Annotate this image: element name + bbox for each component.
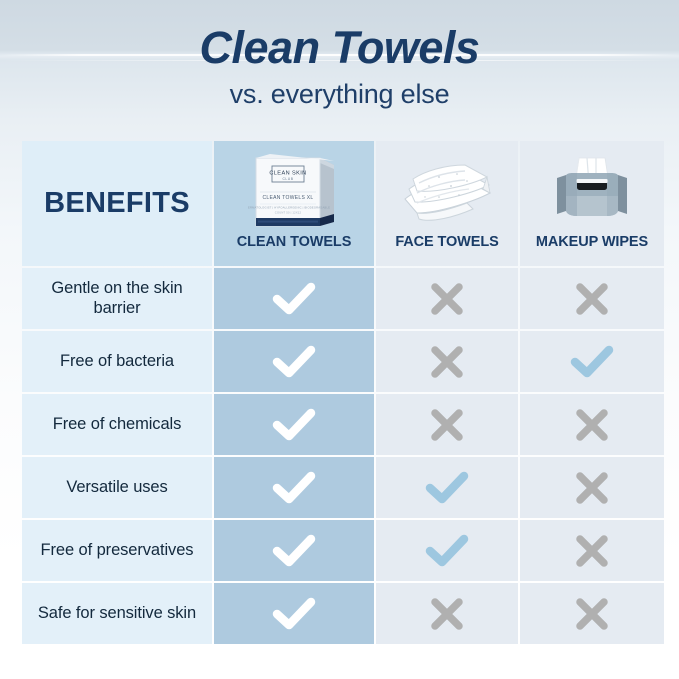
check-white-icon: [271, 405, 317, 445]
mark-cell-face-towels: [376, 457, 518, 518]
cross-gray-icon: [572, 531, 612, 571]
mark-cell-clean-towels: [214, 583, 374, 644]
column-header-label-makeup-wipes: MAKEUP WIPES: [536, 235, 648, 252]
mark-cell-makeup-wipes: [520, 583, 664, 644]
mark-cell-face-towels: [376, 394, 518, 455]
column-header-face-towels: FACE TOWELS: [376, 141, 518, 266]
cross-gray-icon: [427, 279, 467, 319]
benefit-label-cell: Gentle on the skin barrier: [22, 268, 212, 329]
mark-cell-clean-towels: [214, 268, 374, 329]
mark-cell-face-towels: [376, 331, 518, 392]
comparison-table: BENEFITS: [22, 141, 658, 644]
cross-gray-icon: [572, 594, 612, 634]
mark-cell-clean-towels: [214, 331, 374, 392]
mark-cell-face-towels: [376, 520, 518, 581]
mark-cell-face-towels: [376, 583, 518, 644]
page-subtitle: vs. everything else: [0, 80, 679, 110]
benefit-label-text: Free of chemicals: [53, 415, 182, 434]
benefit-label-text: Free of preservatives: [41, 541, 194, 560]
check-white-icon: [271, 279, 317, 319]
svg-text:CLEAN TOWELS XL: CLEAN TOWELS XL: [263, 195, 314, 201]
benefit-label-cell: Safe for sensitive skin: [22, 583, 212, 644]
cross-gray-icon: [427, 594, 467, 634]
mark-cell-makeup-wipes: [520, 331, 664, 392]
mark-cell-face-towels: [376, 268, 518, 329]
cross-gray-icon: [427, 342, 467, 382]
benefit-label-text: Versatile uses: [66, 478, 167, 497]
svg-text:DERMATOLOGIST | HYPOALLERGENIC: DERMATOLOGIST | HYPOALLERGENIC | BIODEGR…: [248, 206, 330, 210]
cross-gray-icon: [572, 405, 612, 445]
mark-cell-makeup-wipes: [520, 457, 664, 518]
column-header-label-clean-towels: CLEAN TOWELS: [237, 235, 352, 252]
benefit-label-cell: Free of chemicals: [22, 394, 212, 455]
mark-cell-makeup-wipes: [520, 520, 664, 581]
mark-cell-makeup-wipes: [520, 394, 664, 455]
mark-cell-makeup-wipes: [520, 268, 664, 329]
benefit-label-text: Gentle on the skin barrier: [30, 279, 204, 318]
mark-cell-clean-towels: [214, 520, 374, 581]
benefits-header-cell: BENEFITS: [22, 141, 212, 266]
column-header-makeup-wipes: MAKEUP WIPES: [520, 141, 664, 266]
clean-towels-box-icon: CLEAN SKIN CLUB CLEAN TOWELS XL DERMATOL…: [214, 149, 374, 235]
mark-cell-clean-towels: [214, 457, 374, 518]
column-header-clean-towels: CLEAN SKIN CLUB CLEAN TOWELS XL DERMATOL…: [214, 141, 374, 266]
cross-gray-icon: [572, 279, 612, 319]
mark-cell-clean-towels: [214, 394, 374, 455]
column-header-label-face-towels: FACE TOWELS: [395, 235, 498, 252]
benefit-label-cell: Free of preservatives: [22, 520, 212, 581]
svg-text:CLEAN SKIN: CLEAN SKIN: [269, 171, 306, 177]
cross-gray-icon: [572, 468, 612, 508]
benefits-header-label: BENEFITS: [44, 187, 190, 220]
check-blue-icon: [569, 342, 615, 382]
check-white-icon: [271, 468, 317, 508]
comparison-chart-page: Clean Towels vs. everything else BENEFIT…: [0, 0, 679, 679]
page-title: Clean Towels: [0, 24, 679, 71]
heading-block: Clean Towels vs. everything else: [0, 24, 679, 110]
benefit-label-text: Free of bacteria: [60, 352, 174, 371]
check-white-icon: [271, 342, 317, 382]
check-blue-icon: [424, 468, 470, 508]
svg-text:COUNT 50 | 12X12: COUNT 50 | 12X12: [275, 211, 302, 215]
check-blue-icon: [424, 531, 470, 571]
cross-gray-icon: [427, 405, 467, 445]
benefit-label-cell: Free of bacteria: [22, 331, 212, 392]
makeup-wipes-pack-icon: [520, 149, 664, 235]
folded-face-towels-icon: [376, 149, 518, 235]
check-white-icon: [271, 531, 317, 571]
svg-text:CLUB: CLUB: [282, 177, 293, 181]
benefit-label-text: Safe for sensitive skin: [38, 604, 196, 623]
benefit-label-cell: Versatile uses: [22, 457, 212, 518]
check-white-icon: [271, 594, 317, 634]
